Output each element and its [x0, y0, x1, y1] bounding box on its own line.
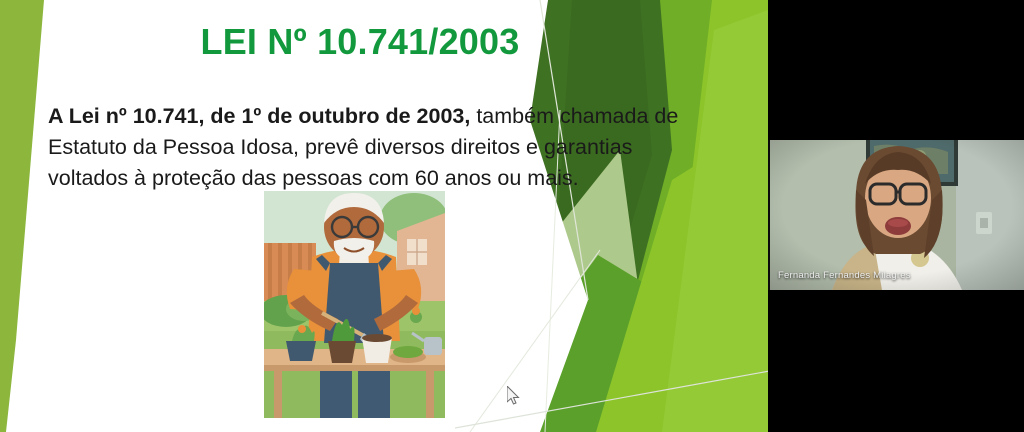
slide-body-text: A Lei nº 10.741, de 1º de outubro de 200…: [48, 101, 708, 194]
participant-video-tile[interactable]: Fernanda Fernandes Milagres: [768, 140, 1024, 290]
participant-video-panel[interactable]: Fernanda Fernandes Milagres: [768, 0, 1024, 432]
meeting-screen: LEI Nº 10.741/2003 A Lei nº 10.741, de 1…: [0, 0, 1024, 432]
elderly-gardener-illustration: [264, 191, 445, 418]
slide-title: LEI Nº 10.741/2003: [40, 22, 680, 62]
participant-name-label: Fernanda Fernandes Milagres: [778, 270, 911, 281]
shared-slide[interactable]: LEI Nº 10.741/2003 A Lei nº 10.741, de 1…: [0, 0, 768, 432]
slide-body-bold: A Lei nº 10.741, de 1º de outubro de 200…: [48, 104, 470, 128]
